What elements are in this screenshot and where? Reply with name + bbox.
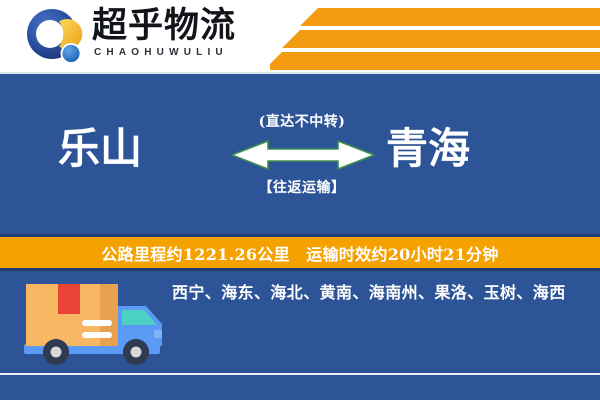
logistics-banner: 超乎物流 CHAOHUWULIU 乐山 青海 (直达不中转) 【往返运输】 公路… — [0, 0, 600, 400]
roundtrip-label: 【往返运输】 — [228, 178, 376, 198]
route-destination: 青海 — [386, 124, 470, 174]
route-center-block: (直达不中转) 【往返运输】 — [228, 112, 376, 198]
brand-text: 超乎物流 CHAOHUWULIU — [92, 6, 272, 60]
double-headed-arrow-icon — [228, 138, 376, 172]
info-bar-text: 公路里程约1221.26公里 运输时效约20小时21分钟 — [101, 241, 498, 265]
route-origin: 乐山 — [58, 124, 142, 174]
bottom-divider — [0, 373, 600, 375]
brand-name-pinyin: CHAOHUWULIU — [92, 46, 272, 60]
banner-header: 超乎物流 CHAOHUWULIU — [0, 0, 600, 74]
coverage-cities: 西宁、海东、海北、黄南、海南州、果洛、玉树、海西 — [172, 281, 584, 305]
info-bar: 公路里程约1221.26公里 运输时效约20小时21分钟 — [0, 237, 600, 268]
chaohu-circle-logo-icon — [26, 8, 84, 66]
direct-shipping-label: (直达不中转) — [228, 112, 376, 132]
brand-logo: 超乎物流 CHAOHUWULIU — [26, 6, 276, 68]
delivery-truck-icon — [18, 276, 174, 380]
orange-speed-stripes-icon — [270, 0, 600, 74]
brand-name-cn: 超乎物流 — [92, 6, 272, 46]
